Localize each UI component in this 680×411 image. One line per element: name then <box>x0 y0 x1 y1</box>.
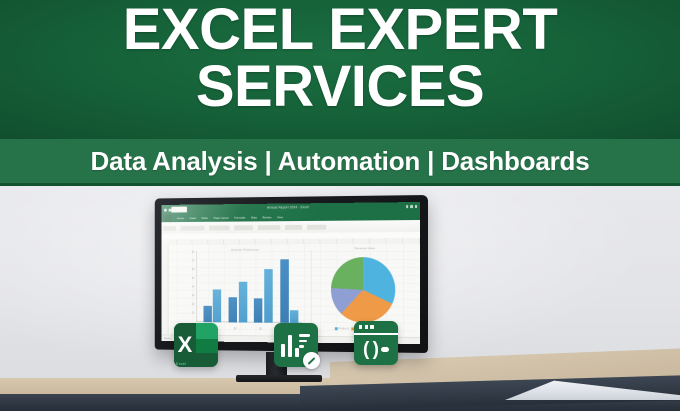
dashboard-line-3 <box>299 345 304 348</box>
y-tick-label: 60 <box>192 269 194 272</box>
legend-swatch-a <box>335 327 337 329</box>
excel-icon-letter: X <box>174 323 196 367</box>
ribbon-group-styles[interactable] <box>258 225 281 230</box>
dashboard-bar-3 <box>295 348 299 357</box>
pencil-badge-icon[interactable] <box>303 352 320 369</box>
bar-target-q1 <box>213 289 221 322</box>
bar-actual-q4 <box>280 259 289 323</box>
code-icon-parentheses: ( ) <box>363 340 378 359</box>
bar-target-q4 <box>290 310 299 323</box>
bar-group-q4 <box>280 259 299 323</box>
minimize-icon[interactable] <box>406 205 408 208</box>
ribbon-group-clipboard[interactable] <box>163 225 176 230</box>
tab-home-active-indicator <box>171 206 187 213</box>
dashboard-icon[interactable] <box>274 323 318 367</box>
maximize-icon[interactable] <box>410 205 412 208</box>
tab-review[interactable]: Review <box>262 215 271 219</box>
dashboard-line-2 <box>299 340 307 343</box>
ribbon-group-number[interactable] <box>234 225 253 230</box>
dashboard-bar-2 <box>288 335 292 357</box>
legend-item-a: Product A <box>335 327 348 330</box>
tab-view[interactable]: View <box>277 215 283 219</box>
bar-chart-plot <box>200 250 302 323</box>
y-tick-label: 20 <box>192 303 194 306</box>
sheet-tab-1[interactable]: Sheet1 <box>164 337 172 340</box>
tab-home[interactable]: Home <box>177 216 184 220</box>
page-title-line-1: EXCEL EXPERT <box>0 2 680 59</box>
subtitle-band: Data Analysis | Automation | Dashboards <box>0 139 680 183</box>
window-controls[interactable] <box>406 205 417 208</box>
code-icon-body: ( ) <box>354 333 398 365</box>
x-tick-label-q2: Q2 <box>225 327 246 330</box>
bar-chart-y-axis <box>196 251 197 322</box>
subtitle-text: Data Analysis | Automation | Dashboards <box>91 146 590 177</box>
page-title-line-2: SERVICES <box>0 59 680 116</box>
code-titlebar-dot <box>365 325 368 329</box>
tab-file[interactable] <box>163 214 171 222</box>
tab-page-layout[interactable]: Page Layout <box>213 216 228 220</box>
y-tick-label: 80 <box>192 251 194 254</box>
excel-document-title: Annual Report 2024 - Excel <box>161 204 420 211</box>
tab-data[interactable]: Data <box>251 216 257 220</box>
bar-target-q2 <box>239 282 247 323</box>
excel-icon-sheet <box>194 323 218 367</box>
ribbon-group-font[interactable] <box>181 225 205 230</box>
bar-target-q3 <box>264 269 273 323</box>
code-titlebar-dot <box>359 325 362 329</box>
y-tick-label: 30 <box>192 295 194 298</box>
dashboard-icon-bars <box>281 333 299 357</box>
pencil-icon <box>308 357 316 365</box>
bar-group-q3 <box>254 269 272 323</box>
bar-group-q1 <box>203 289 221 322</box>
ribbon-groups <box>163 222 418 232</box>
code-titlebar-dot <box>370 325 373 329</box>
dashboard-line-1 <box>299 334 310 337</box>
y-tick-label: 40 <box>192 286 194 289</box>
y-tick-label: 70 <box>192 260 194 263</box>
code-icon-dash <box>381 347 389 352</box>
excel-icon-wordmark: Excel <box>176 362 186 366</box>
monitor-base <box>236 375 322 382</box>
dashboard-bar-1 <box>281 344 285 357</box>
bar-actual-q3 <box>254 298 262 322</box>
row-headers[interactable] <box>161 244 168 341</box>
thumbnail-canvas: EXCEL EXPERT SERVICES Data Analysis | Au… <box>0 0 680 411</box>
bar-actual-q1 <box>203 306 211 322</box>
chart-divider <box>311 250 312 333</box>
x-tick-label-q3: Q3 <box>250 327 271 330</box>
desk-scene: Annual Report 2024 - Excel Home Insert D… <box>0 186 680 411</box>
excel-icon[interactable]: X Excel <box>174 323 218 367</box>
bar-group-q2 <box>229 282 247 323</box>
bar-chart[interactable]: Quarterly Performance <box>187 248 304 334</box>
tab-draw[interactable]: Draw <box>202 216 208 220</box>
close-icon[interactable] <box>415 205 417 208</box>
y-tick-label: 10 <box>192 312 194 315</box>
dashboard-icon-lines <box>299 334 311 348</box>
code-icon[interactable]: ( ) <box>354 321 398 365</box>
header-banner: EXCEL EXPERT SERVICES <box>0 0 680 139</box>
title-block: EXCEL EXPERT SERVICES <box>0 2 680 116</box>
bar-actual-q2 <box>229 297 237 322</box>
ribbon-group-alignment[interactable] <box>209 225 229 230</box>
tab-insert[interactable]: Insert <box>189 216 196 220</box>
pie-chart-title: Revenue Share <box>320 246 410 250</box>
ribbon-group-editing[interactable] <box>307 224 326 229</box>
pie-chart-disc <box>331 257 395 323</box>
tab-formulas[interactable]: Formulas <box>234 216 245 220</box>
legend-label-a: Product A <box>339 327 349 330</box>
y-tick-label: 50 <box>192 277 194 280</box>
ribbon-group-cells[interactable] <box>285 224 302 229</box>
